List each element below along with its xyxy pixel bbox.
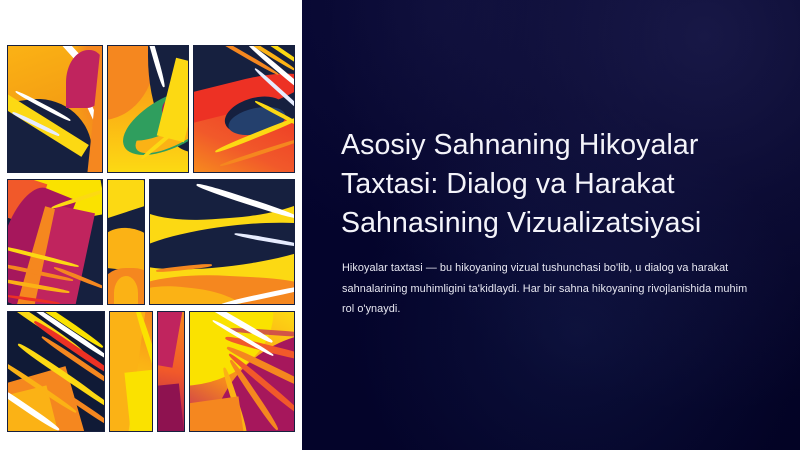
art-panel-6 xyxy=(149,179,295,305)
art-panel-5 xyxy=(107,179,145,305)
art-panel-9 xyxy=(157,311,185,432)
slide-body-text: Hikoyalar taxtasi — bu hikoyaning vizual… xyxy=(342,258,750,320)
art-panel-8 xyxy=(109,311,153,432)
art-panel-2 xyxy=(107,45,189,173)
art-panel-10 xyxy=(189,311,295,432)
presentation-slide: Asosiy Sahnaning Hikoyalar Taxtasi: Dial… xyxy=(0,0,800,450)
art-panel-3 xyxy=(193,45,295,173)
slide-title: Asosiy Sahnaning Hikoyalar Taxtasi: Dial… xyxy=(341,126,753,243)
artwork-image xyxy=(0,0,302,450)
art-panel-1 xyxy=(7,45,103,173)
text-column: Asosiy Sahnaning Hikoyalar Taxtasi: Dial… xyxy=(341,0,761,450)
art-panel-4 xyxy=(7,179,103,305)
art-panel-7 xyxy=(7,311,105,432)
artwork-panel-grid xyxy=(7,13,295,432)
